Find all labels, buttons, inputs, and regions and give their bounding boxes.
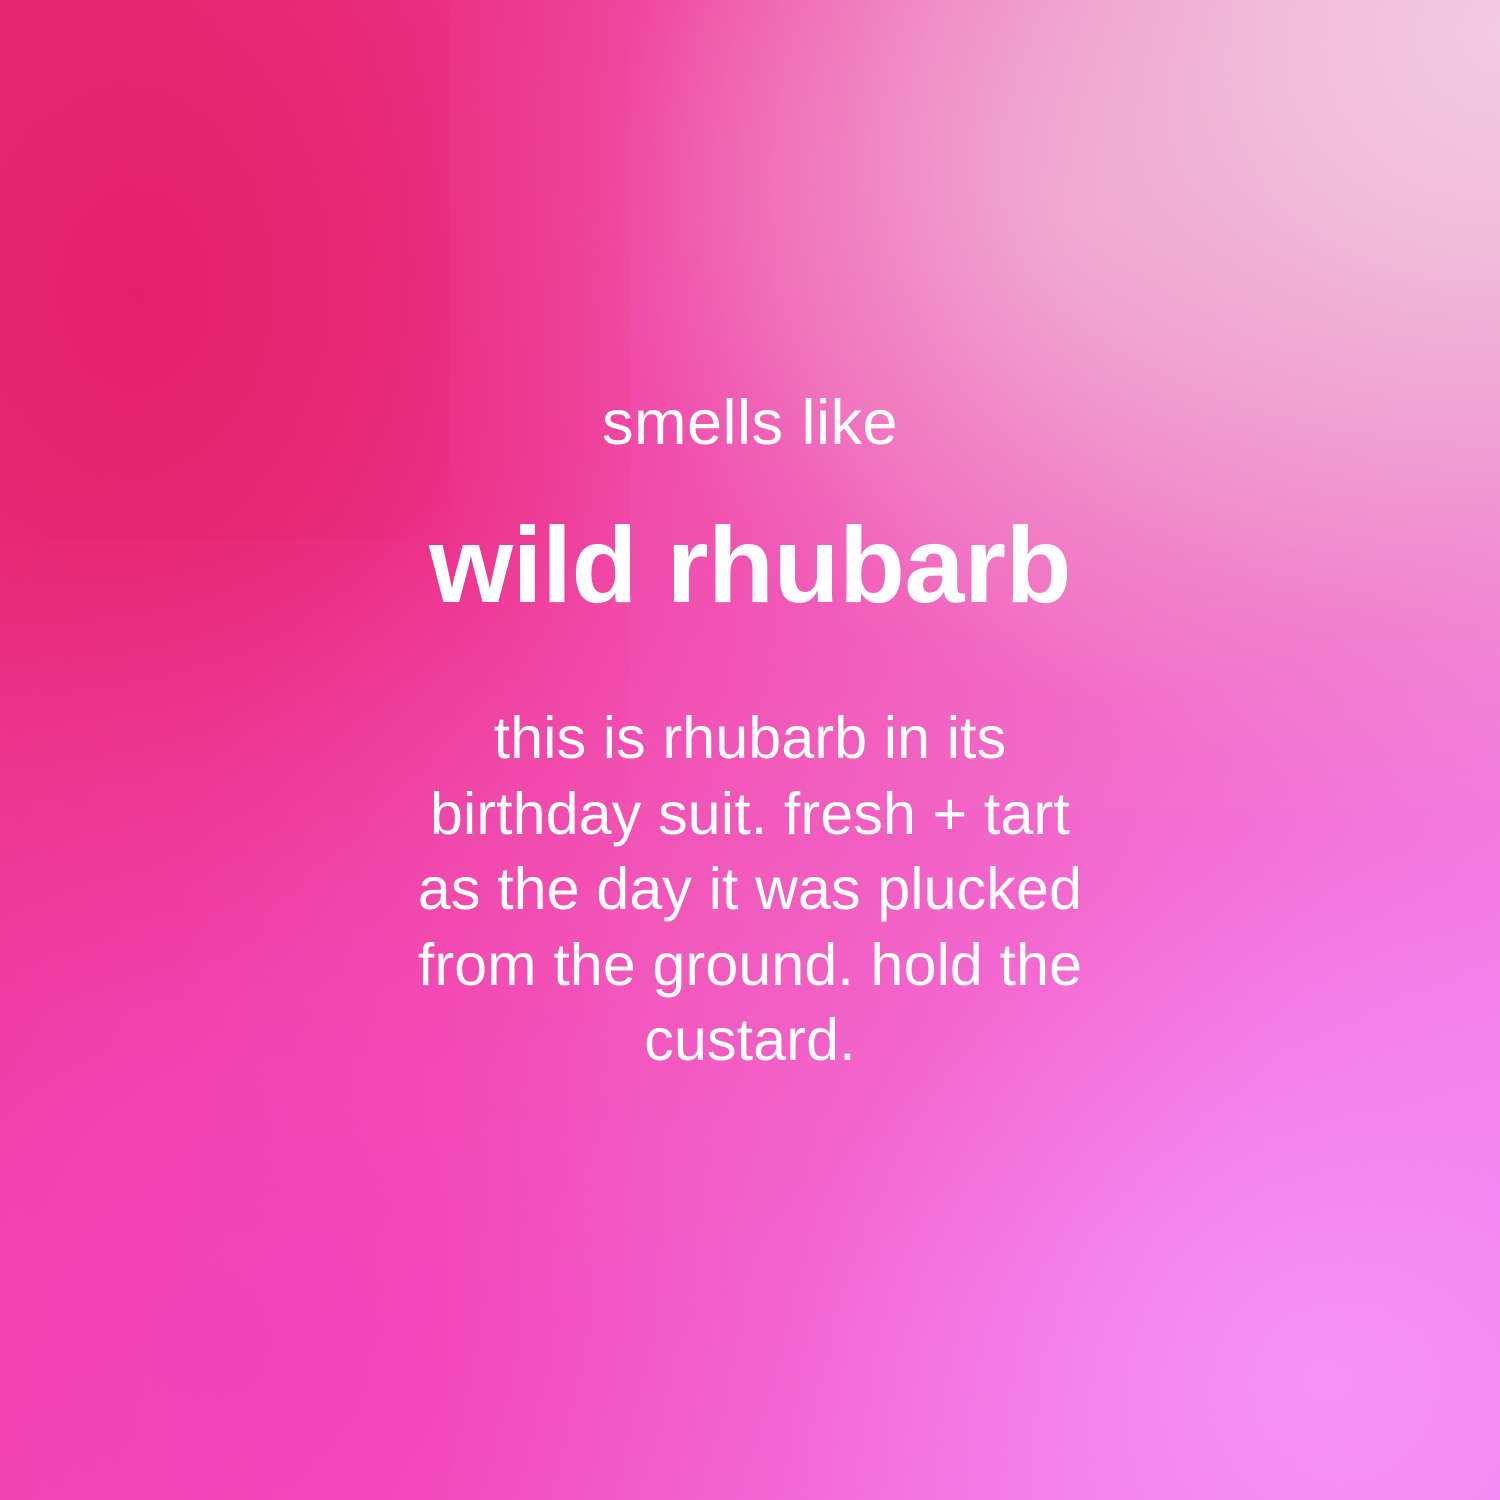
description-line: as the day it was plucked xyxy=(380,852,1120,928)
description-line: birthday suit. fresh + tart xyxy=(380,777,1120,853)
scent-description: this is rhubarb in its birthday suit. fr… xyxy=(380,701,1120,1079)
eyebrow-label: smells like xyxy=(602,392,898,455)
text-block: smells like wild rhubarb this is rhubarb… xyxy=(0,0,1500,1500)
description-line: custard. xyxy=(380,1003,1120,1079)
description-line: from the ground. hold the xyxy=(380,928,1120,1004)
product-scent-card: smells like wild rhubarb this is rhubarb… xyxy=(0,0,1500,1500)
description-line: this is rhubarb in its xyxy=(380,701,1120,777)
scent-name-heading: wild rhubarb xyxy=(429,511,1071,619)
